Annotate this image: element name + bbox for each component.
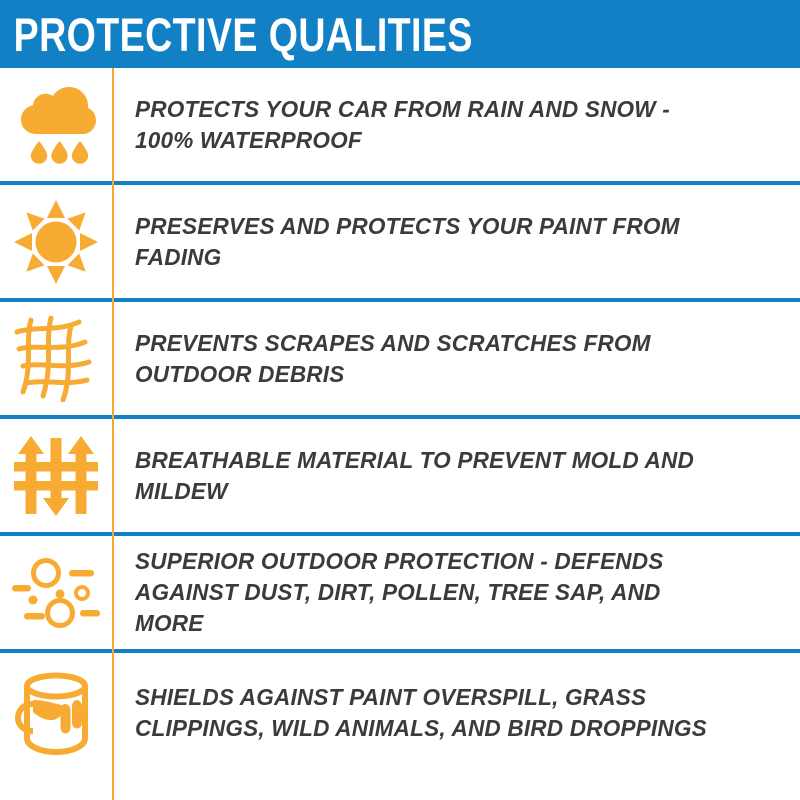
paint-bucket-icon [15, 670, 97, 756]
icon-cell [0, 536, 112, 649]
icon-cell [0, 419, 112, 532]
icon-cell [0, 653, 112, 772]
list-item: BREATHABLE MATERIAL TO PREVENT MOLD AND … [0, 419, 800, 536]
breathable-arrows-icon [14, 434, 98, 518]
rain-cloud-icon [15, 84, 97, 166]
feature-list: PROTECTS YOUR CAR FROM RAIN AND SNOW - 1… [0, 68, 800, 772]
text-cell: PRESERVES AND PROTECTS YOUR PAINT FROM F… [112, 211, 800, 273]
list-item: PRESERVES AND PROTECTS YOUR PAINT FROM F… [0, 185, 800, 302]
header-banner: PROTECTIVE QUALITIES [0, 0, 800, 68]
list-item: SHIELDS AGAINST PAINT OVERSPILL, GRASS C… [0, 653, 800, 772]
list-item: PREVENTS SCRAPES AND SCRATCHES FROM OUTD… [0, 302, 800, 419]
text-cell: PROTECTS YOUR CAR FROM RAIN AND SNOW - 1… [112, 94, 800, 156]
icon-cell [0, 185, 112, 298]
list-item: PROTECTS YOUR CAR FROM RAIN AND SNOW - 1… [0, 68, 800, 185]
scratches-icon [13, 316, 99, 402]
list-item: SUPERIOR OUTDOOR PROTECTION - DEFENDS AG… [0, 536, 800, 653]
icon-cell [0, 68, 112, 181]
text-cell: SHIELDS AGAINST PAINT OVERSPILL, GRASS C… [112, 682, 800, 744]
list-item-label: PRESERVES AND PROTECTS YOUR PAINT FROM F… [135, 211, 711, 273]
icon-cell [0, 302, 112, 415]
list-item-label: SHIELDS AGAINST PAINT OVERSPILL, GRASS C… [135, 682, 711, 744]
list-item-label: BREATHABLE MATERIAL TO PREVENT MOLD AND … [135, 445, 711, 507]
vertical-divider [112, 68, 114, 800]
text-cell: BREATHABLE MATERIAL TO PREVENT MOLD AND … [112, 445, 800, 507]
list-item-label: SUPERIOR OUTDOOR PROTECTION - DEFENDS AG… [135, 546, 711, 639]
protective-qualities-infographic: PROTECTIVE QUALITIES PROTECTS YOUR CAR F… [0, 0, 800, 800]
text-cell: PREVENTS SCRAPES AND SCRATCHES FROM OUTD… [112, 328, 800, 390]
dust-particles-icon [12, 553, 100, 633]
text-cell: SUPERIOR OUTDOOR PROTECTION - DEFENDS AG… [112, 546, 800, 639]
list-item-label: PROTECTS YOUR CAR FROM RAIN AND SNOW - 1… [135, 94, 711, 156]
list-item-label: PREVENTS SCRAPES AND SCRATCHES FROM OUTD… [135, 328, 711, 390]
page-title: PROTECTIVE QUALITIES [0, 11, 473, 58]
sun-icon [14, 200, 98, 284]
